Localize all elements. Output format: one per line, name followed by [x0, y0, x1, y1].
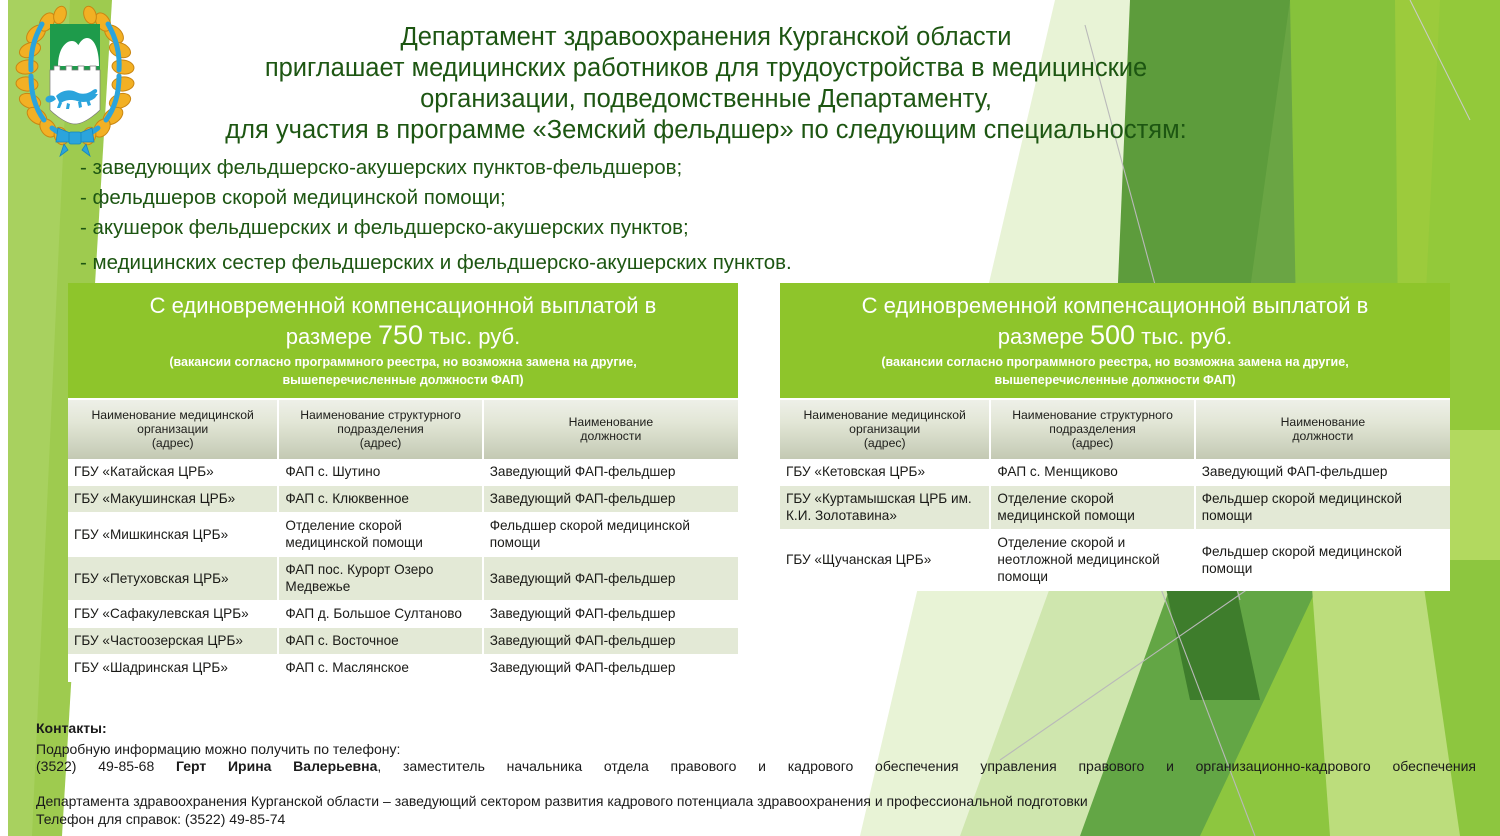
column-header-subdivision: Наименование структурного подразделения … — [278, 400, 482, 459]
cell-position: Фельдшер скорой медицинской помощи — [1195, 486, 1450, 530]
table-row: ГБУ «Шадринская ЦРБ» ФАП с. Маслянское З… — [68, 655, 738, 682]
cell-position: Заведующий ФАП-фельдшер — [483, 486, 738, 513]
cell-subdivision: ФАП с. Менщиково — [990, 459, 1194, 486]
specialty-item: - акушерок фельдшерских и фельдшерско-ак… — [80, 218, 980, 237]
title-line-4: для участия в программе «Земский фельдше… — [150, 115, 1262, 146]
cell-position: Заведующий ФАП-фельдшер — [483, 459, 738, 486]
cell-subdivision: Отделение скорой медицинской помощи — [990, 486, 1194, 530]
contacts-person-name: Герт Ирина Валерьевна — [176, 758, 377, 774]
contacts-person-line: (3522) 49-85-68 Герт Ирина Валерьевна, з… — [36, 758, 1476, 793]
col-head-line: Наименование медицинской — [92, 408, 254, 422]
col-head-line: должности — [1292, 429, 1353, 443]
specialty-item: - медицинских сестер фельдшерских и фель… — [80, 253, 980, 272]
vacancy-table-750: Наименование медицинской организации (ад… — [68, 400, 738, 682]
slide-canvas: Департамент здравоохранения Курганской о… — [0, 0, 1500, 836]
vacancy-table-750-body: ГБУ «Катайская ЦРБ» ФАП с. Шутино Заведу… — [68, 459, 738, 682]
banner-headline: С единовременной компенсационной выплато… — [80, 292, 726, 320]
banner-amount-value: 750 — [378, 320, 423, 350]
col-head-line: (адрес) — [360, 436, 402, 450]
table-row: ГБУ «Кетовская ЦРБ» ФАП с. Менщиково Зав… — [780, 459, 1450, 486]
banner-amount-suffix: тыс. руб. — [423, 324, 520, 349]
col-head-line: (адрес) — [1072, 436, 1114, 450]
cell-position: Заведующий ФАП-фельдшер — [483, 628, 738, 655]
table-row: ГБУ «Щучанская ЦРБ» Отделение скорой и н… — [780, 530, 1450, 591]
vacancy-table-500-body: ГБУ «Кетовская ЦРБ» ФАП с. Менщиково Зав… — [780, 459, 1450, 591]
col-head-line: должности — [580, 429, 641, 443]
cell-organization: ГБУ «Макушинская ЦРБ» — [68, 486, 278, 513]
contacts-intro: Подробную информацию можно получить по т… — [36, 741, 1476, 759]
cell-organization: ГБУ «Кетовская ЦРБ» — [780, 459, 990, 486]
cell-organization: ГБУ «Мишкинская ЦРБ» — [68, 513, 278, 557]
col-head-line: организации — [849, 422, 920, 436]
table-row: ГБУ «Петуховская ЦРБ» ФАП пос. Курорт Оз… — [68, 557, 738, 601]
cell-organization: ГБУ «Петуховская ЦРБ» — [68, 557, 278, 601]
banner-note-line-1: (вакансии согласно программного реестра,… — [80, 355, 726, 370]
col-head-line: (адрес) — [864, 436, 906, 450]
cell-position: Заведующий ФАП-фельдшер — [1195, 459, 1450, 486]
cell-subdivision: ФАП пос. Курорт Озеро Медвежье — [278, 557, 482, 601]
title-line-2: приглашает медицинских работников для тр… — [150, 53, 1262, 84]
column-header-organization: Наименование медицинской организации (ад… — [68, 400, 278, 459]
cell-position: Заведующий ФАП-фельдшер — [483, 655, 738, 682]
cell-position: Фельдшер скорой медицинской помощи — [483, 513, 738, 557]
title-line-1: Департамент здравоохранения Курганской о… — [150, 22, 1262, 53]
col-head-line: подразделения — [1049, 422, 1135, 436]
table-row: ГБУ «Частоозерская ЦРБ» ФАП с. Восточное… — [68, 628, 738, 655]
cell-subdivision: Отделение скорой и неотложной медицинско… — [990, 530, 1194, 591]
cell-position: Заведующий ФАП-фельдшер — [483, 557, 738, 601]
cell-organization: ГБУ «Катайская ЦРБ» — [68, 459, 278, 486]
column-header-subdivision: Наименование структурного подразделения … — [990, 400, 1194, 459]
cell-position: Заведующий ФАП-фельдшер — [483, 601, 738, 628]
column-header-organization: Наименование медицинской организации (ад… — [780, 400, 990, 459]
col-head-line: Наименование — [1281, 415, 1366, 429]
col-head-line: подразделения — [337, 422, 423, 436]
cell-organization: ГБУ «Куртамышская ЦРБ им. К.И. Золотавин… — [780, 486, 990, 530]
cell-position: Фельдшер скорой медицинской помощи — [1195, 530, 1450, 591]
banner-headline: С единовременной компенсационной выплато… — [792, 292, 1438, 320]
cell-subdivision: ФАП с. Маслянское — [278, 655, 482, 682]
banner-amount-line: размере 500 тыс. руб. — [792, 320, 1438, 352]
col-head-line: Наименование — [569, 415, 654, 429]
banner-amount-line: размере 750 тыс. руб. — [80, 320, 726, 352]
contacts-department-line: Департамента здравоохранения Курганской … — [36, 793, 1476, 811]
cell-subdivision: ФАП с. Шутино — [278, 459, 482, 486]
cell-organization: ГБУ «Щучанская ЦРБ» — [780, 530, 990, 591]
banner-note-line-2: вышеперечисленные должности ФАП) — [792, 373, 1438, 388]
cell-subdivision: Отделение скорой медицинской помощи — [278, 513, 482, 557]
banner-amount-prefix: размере — [998, 324, 1090, 349]
specialty-item: - фельдшеров скорой медицинской помощи; — [80, 188, 980, 207]
banner-note-line-2: вышеперечисленные должности ФАП) — [80, 373, 726, 388]
table-header-row: Наименование медицинской организации (ад… — [780, 400, 1450, 459]
contacts-helpline: Телефон для справок: (3522) 49-85-74 — [36, 811, 1476, 829]
contacts-person-role: , заместитель начальника отдела правовог… — [377, 758, 1476, 774]
table-row: ГБУ «Катайская ЦРБ» ФАП с. Шутино Заведу… — [68, 459, 738, 486]
banner-amount-suffix: тыс. руб. — [1135, 324, 1232, 349]
col-head-line: Наименование структурного — [300, 408, 461, 422]
table-row: ГБУ «Макушинская ЦРБ» ФАП с. Клюквенное … — [68, 486, 738, 513]
vacancy-table-500: Наименование медицинской организации (ад… — [780, 400, 1450, 591]
vacancy-panel-750: С единовременной компенсационной выплато… — [68, 283, 738, 682]
cell-organization: ГБУ «Частоозерская ЦРБ» — [68, 628, 278, 655]
col-head-line: Наименование медицинской — [804, 408, 966, 422]
contacts-title: Контакты: — [36, 720, 1476, 738]
column-header-position: Наименование должности — [1195, 400, 1450, 459]
kurgan-coat-of-arms-icon — [14, 4, 136, 164]
banner-amount-value: 500 — [1090, 320, 1135, 350]
cell-organization: ГБУ «Шадринская ЦРБ» — [68, 655, 278, 682]
cell-subdivision: ФАП с. Клюквенное — [278, 486, 482, 513]
panel-banner-500: С единовременной компенсационной выплато… — [780, 283, 1450, 400]
cell-subdivision: ФАП с. Восточное — [278, 628, 482, 655]
specialty-item: - заведующих фельдшерско-акушерских пунк… — [80, 158, 980, 177]
column-header-position: Наименование должности — [483, 400, 738, 459]
banner-amount-prefix: размере — [286, 324, 378, 349]
table-row: ГБУ «Мишкинская ЦРБ» Отделение скорой ме… — [68, 513, 738, 557]
title-line-3: организации, подведомственные Департамен… — [150, 84, 1262, 115]
contacts-phone: (3522) 49-85-68 — [36, 758, 176, 774]
contacts-block: Контакты: Подробную информацию можно пол… — [36, 720, 1476, 829]
banner-note-line-1: (вакансии согласно программного реестра,… — [792, 355, 1438, 370]
col-head-line: Наименование структурного — [1012, 408, 1173, 422]
cell-organization: ГБУ «Сафакулевская ЦРБ» — [68, 601, 278, 628]
col-head-line: (адрес) — [152, 436, 194, 450]
cell-subdivision: ФАП д. Большое Султаново — [278, 601, 482, 628]
col-head-line: организации — [137, 422, 208, 436]
page-title: Департамент здравоохранения Курганской о… — [150, 22, 1262, 146]
panel-banner-750: С единовременной компенсационной выплато… — [68, 283, 738, 400]
table-header-row: Наименование медицинской организации (ад… — [68, 400, 738, 459]
specialties-list: - заведующих фельдшерско-акушерских пунк… — [80, 158, 980, 272]
table-row: ГБУ «Сафакулевская ЦРБ» ФАП д. Большое С… — [68, 601, 738, 628]
vacancy-panel-500: С единовременной компенсационной выплато… — [780, 283, 1450, 591]
table-row: ГБУ «Куртамышская ЦРБ им. К.И. Золотавин… — [780, 486, 1450, 530]
